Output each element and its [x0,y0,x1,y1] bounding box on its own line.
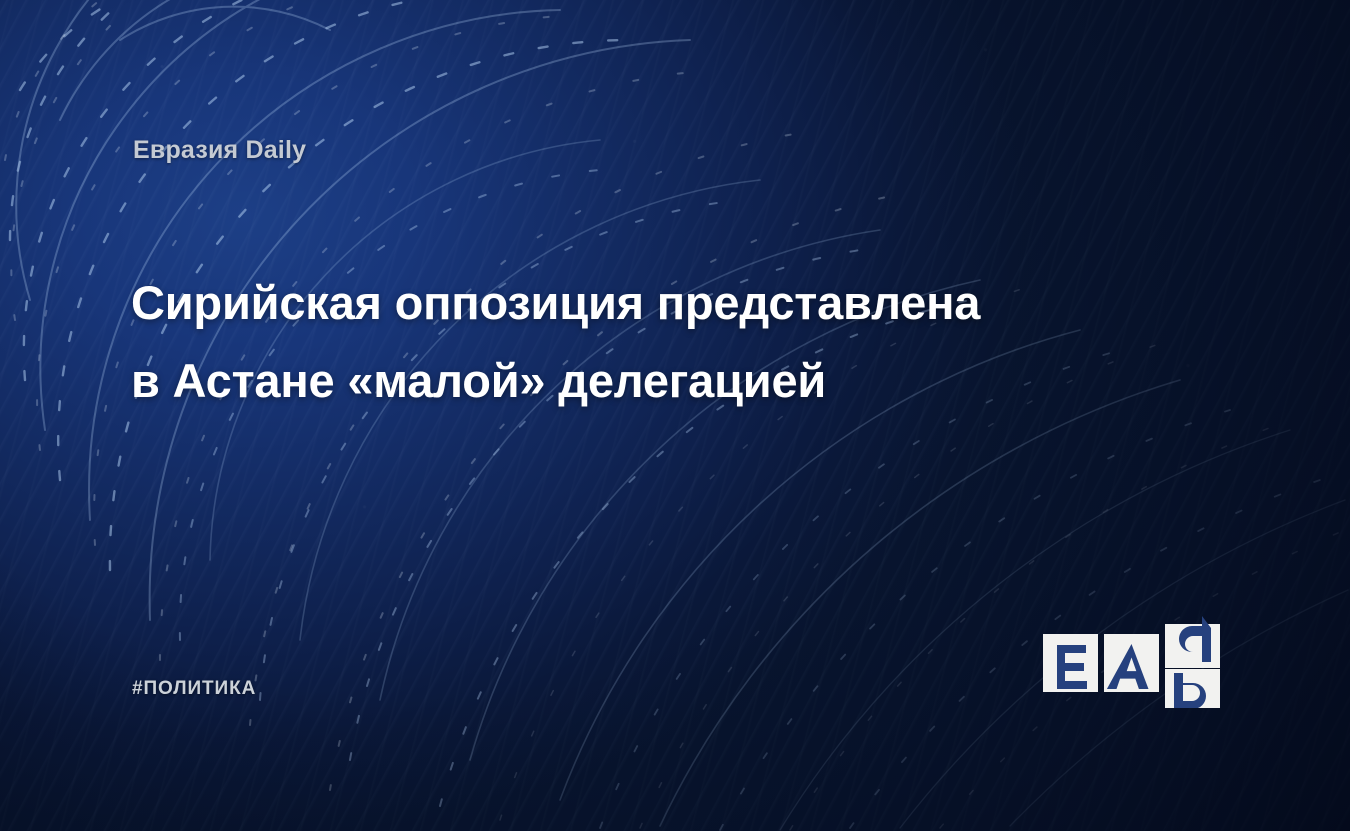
logo-tile-a [1104,634,1159,692]
news-card: Евразия Daily Сирийская оппозиция предст… [0,0,1350,831]
eadaily-logo[interactable] [1043,616,1224,708]
page-title: Сирийская оппозиция представлена в Астан… [131,264,1141,420]
brand-wordmark: Евразия Daily [133,136,306,165]
eadaily-logo-svg [1043,616,1224,708]
logo-tile-e [1043,634,1098,692]
logo-tile-d [1165,616,1220,708]
category-tag[interactable]: #ПОЛИТИКА [132,678,256,700]
headline-line-1: Сирийская оппозиция представлена [131,264,1141,342]
headline-line-2: в Астане «малой» делегацией [131,342,1141,420]
